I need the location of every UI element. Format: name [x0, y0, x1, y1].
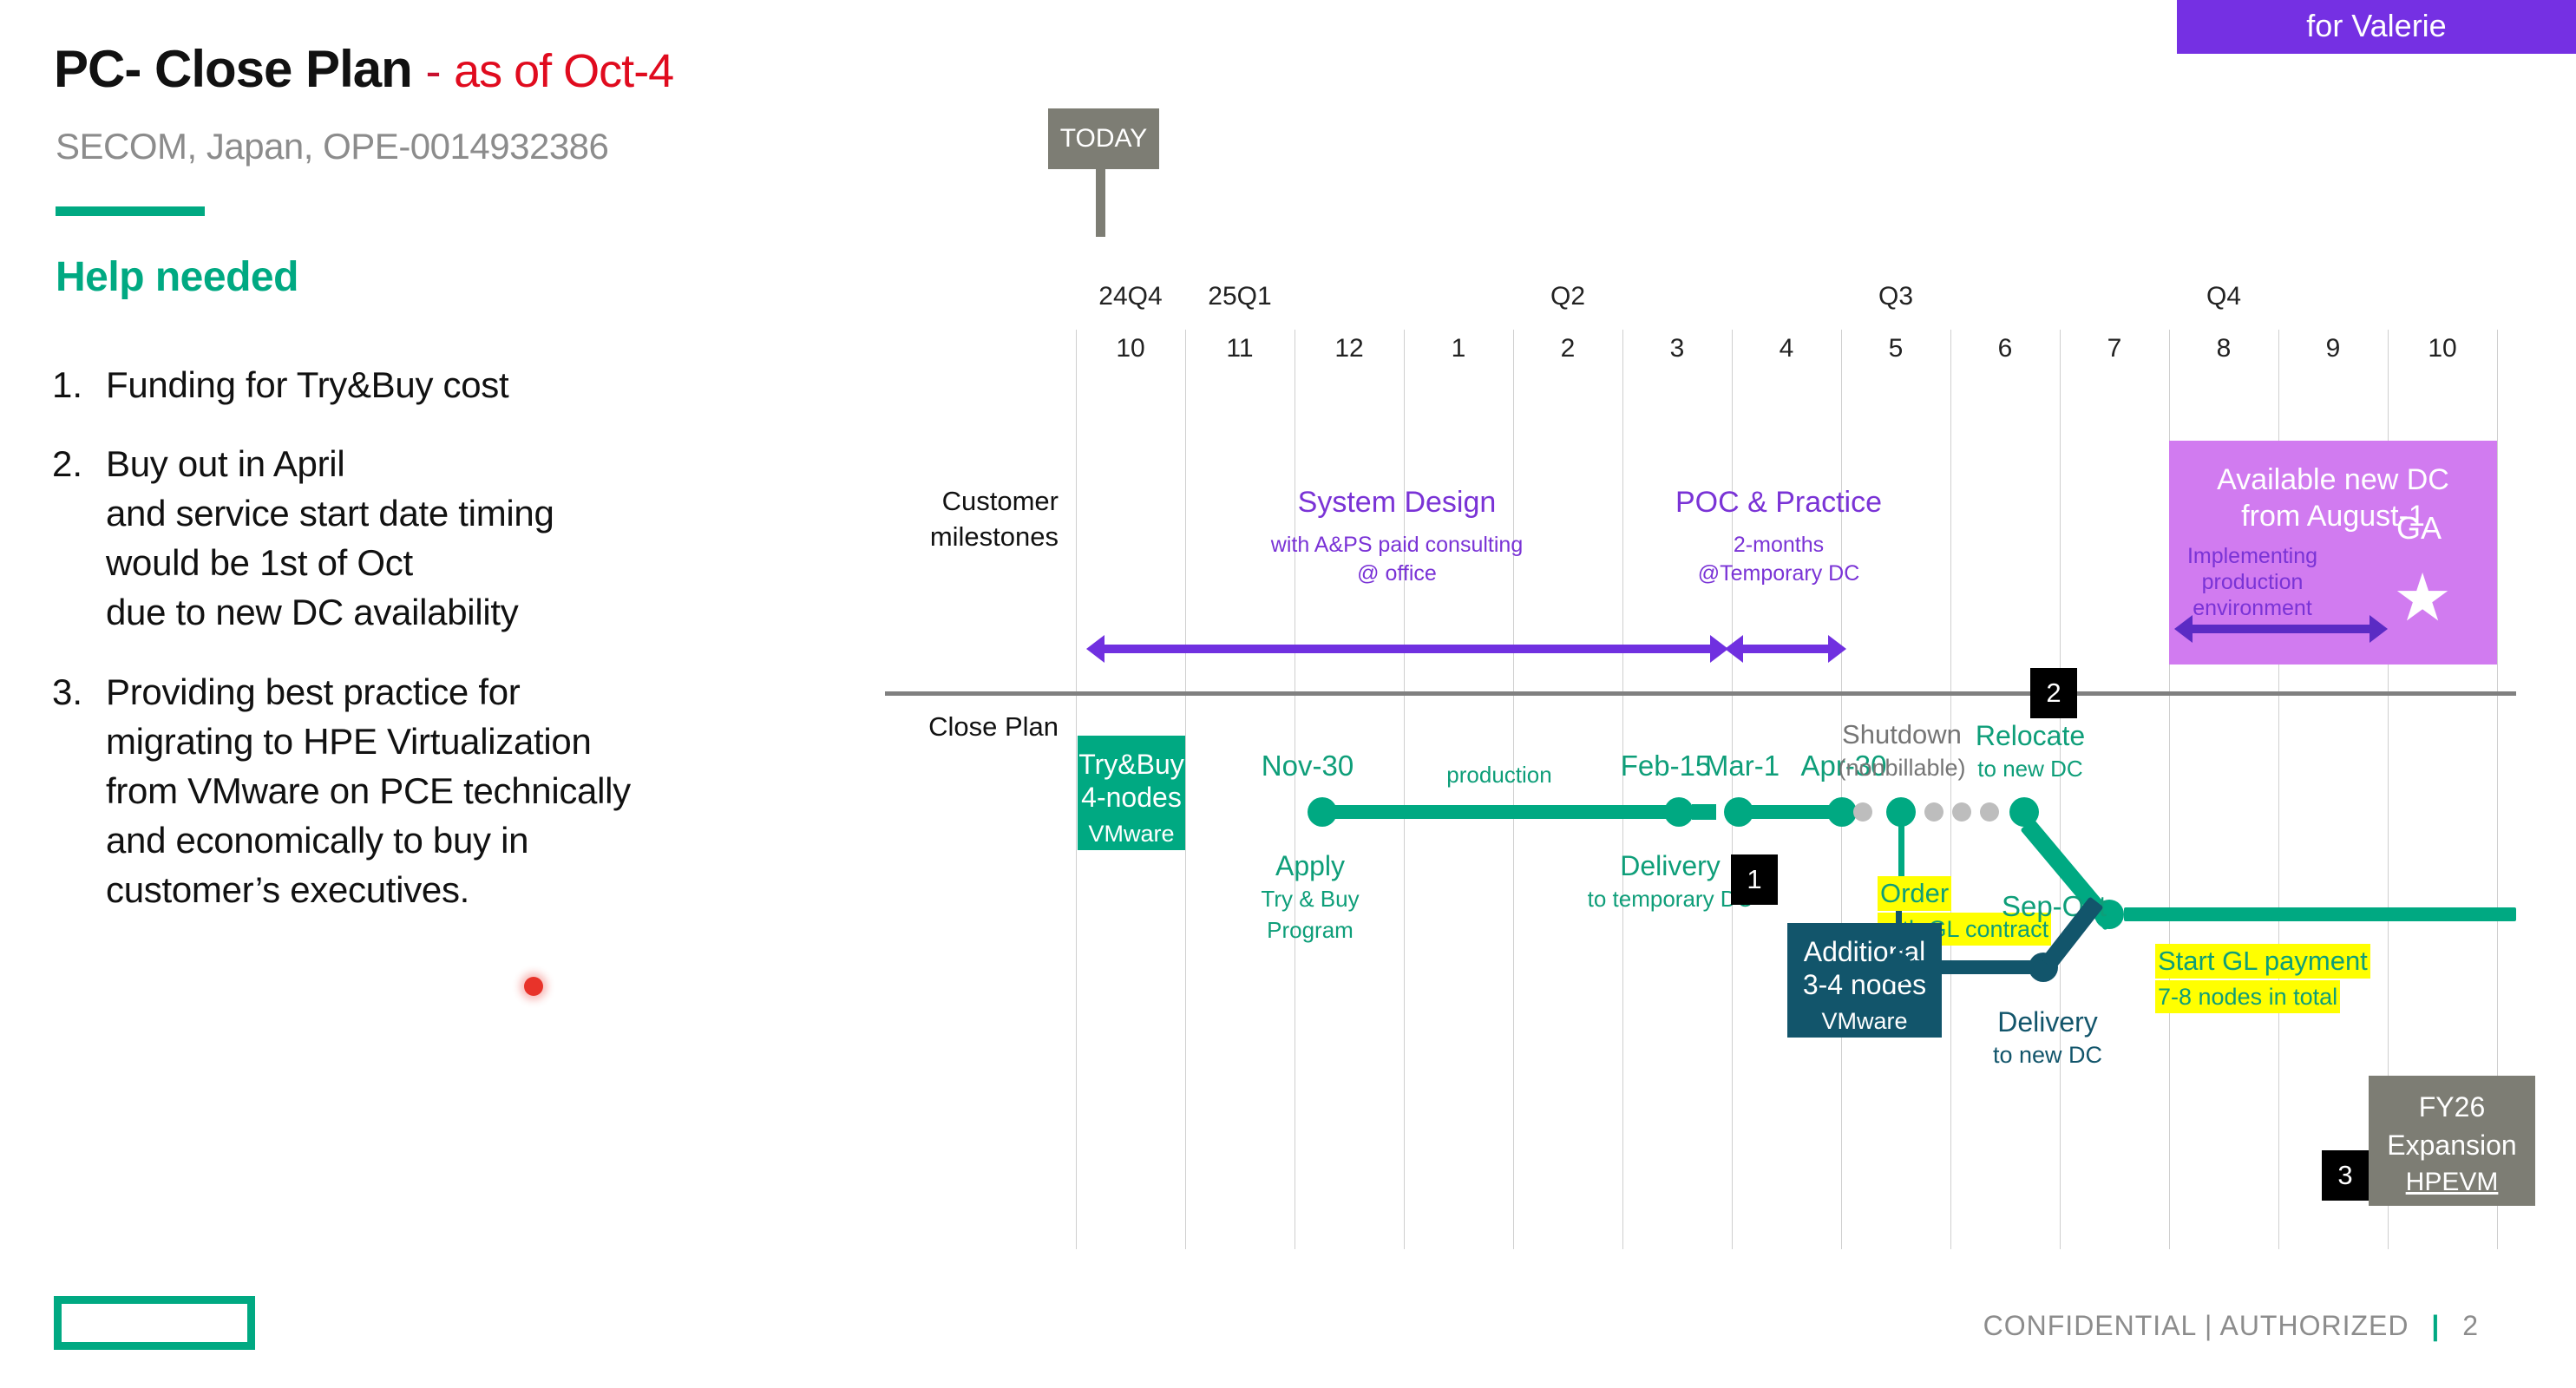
month-label: 8: [2169, 334, 2278, 363]
grid-line: [1841, 330, 1842, 1249]
list-item: 3. Providing best practice for migrating…: [52, 667, 876, 915]
dotted-track-dot: [1980, 802, 1999, 822]
month-label: 10: [1076, 334, 1185, 363]
list-item-line: Providing best practice for: [106, 667, 631, 717]
available-new-dc-headline-line: Available new DC: [2169, 462, 2497, 498]
list-item-line: due to new DC availability: [106, 587, 554, 637]
list-item-text: Buy out in April and service start date …: [106, 439, 554, 637]
list-item-line: and service start date timing: [106, 488, 554, 538]
row-label-customer-milestones: Customer milestones: [885, 484, 1059, 555]
list-item-line: customer’s executives.: [106, 865, 631, 914]
page-title-dash: -: [425, 45, 440, 97]
today-marker: TODAY: [1048, 108, 1159, 169]
milestone-sub-poc: 2-months @Temporary DC: [1614, 531, 1943, 589]
delivery-new-dc-title: Delivery: [1997, 1006, 2098, 1038]
track-connector: [1692, 804, 1716, 820]
slide-root: PC- Close Plan - as of Oct-4 SECOM, Japa…: [0, 0, 2576, 1388]
dotted-track-dot: [1924, 802, 1943, 822]
trybuy-chip-line: 4-nodes: [1078, 781, 1185, 814]
list-item-text: Providing best practice for migrating to…: [106, 667, 631, 915]
list-item-number: 1.: [52, 360, 106, 409]
available-new-dc-detail-line: environment: [2174, 595, 2330, 621]
available-new-dc-headline: Available new DC from August-1: [2169, 462, 2497, 534]
badge-3: 3: [2322, 1150, 2369, 1201]
ga-label: GA: [2396, 510, 2442, 547]
milestone-sub-line: 2-months: [1614, 531, 1943, 560]
quarter-label: Q2: [1513, 282, 1622, 311]
row-label-close-plan: Close Plan: [885, 710, 1059, 745]
trybuy-chip-line: Try&Buy: [1078, 736, 1185, 781]
fy26-line: Expansion: [2369, 1126, 2535, 1164]
milestone-dot-nov30: [1308, 797, 1337, 827]
month-label: 9: [2278, 334, 2388, 363]
month-label: 4: [1732, 334, 1841, 363]
additional-bar: [1911, 960, 2042, 974]
additional-start-dot: [1883, 953, 1912, 982]
additional-chip-line: VMware: [1787, 1001, 1942, 1036]
list-item-line: would be 1st of Oct: [106, 538, 554, 587]
month-label: 2: [1513, 334, 1622, 363]
footer-confidential: CONFIDENTIAL | AUTHORIZED: [1983, 1310, 2409, 1341]
list-item: 2. Buy out in April and service start da…: [52, 439, 876, 637]
dotted-track-dot: [1952, 802, 1971, 822]
milestone-sub-system-design: with A&PS paid consulting @ office: [1197, 531, 1596, 589]
milestone-dot-apr30: [1827, 797, 1857, 827]
milestone-dot-mar1: [1724, 797, 1753, 827]
date-label-nov30: Nov-30: [1221, 750, 1394, 782]
grid-line: [1076, 330, 1077, 1249]
badge-2: 2: [2030, 668, 2077, 718]
revision-banner-line1: as of October-4: [2177, 0, 2576, 7]
trybuy-chip: Try&Buy 4-nodes VMware: [1078, 736, 1185, 850]
milestone-sub-line: @Temporary DC: [1614, 560, 1943, 588]
month-label: 1: [1404, 334, 1513, 363]
available-new-dc-detail: Implementing production environment: [2174, 543, 2330, 621]
event-apply-title: Apply: [1275, 850, 1345, 881]
timeline: TODAY 24Q4 25Q1 Q2 Q3 Q4 10 11 12 1 2 3 …: [885, 208, 2516, 1249]
page-title: PC- Close Plan - as of Oct-4: [54, 39, 673, 99]
implementing-arrow: [2192, 625, 2370, 633]
badge-1: 1: [1731, 854, 1778, 905]
month-label: 10: [2388, 334, 2497, 363]
gl-payment-title: Start GL payment: [2155, 944, 2370, 979]
page-number: 2: [2462, 1310, 2479, 1341]
grid-line: [1732, 330, 1733, 1249]
gl-payment-sub: 7-8 nodes in total: [2155, 980, 2340, 1013]
delivery-new-dc-label: Delivery to new DC: [1952, 1005, 2143, 1070]
fy26-hpevm-link[interactable]: HPEVM: [2369, 1164, 2535, 1201]
grid-line: [1185, 330, 1186, 1249]
mouse-cursor-dot: [524, 977, 543, 996]
additional-stem: [1896, 911, 1902, 951]
list-item-number: 2.: [52, 439, 106, 637]
available-new-dc-box: Available new DC from August-1 Implement…: [2169, 441, 2497, 665]
grid-line: [1622, 330, 1623, 1249]
page-subtitle: SECOM, Japan, OPE-0014932386: [56, 126, 608, 167]
milestone-sub-line: with A&PS paid consulting: [1197, 531, 1596, 560]
ga-star-icon: ★: [2393, 573, 2452, 625]
month-label: 5: [1841, 334, 1950, 363]
month-label: 12: [1295, 334, 1404, 363]
list-item-text: Funding for Try&Buy cost: [106, 360, 508, 409]
month-label: 6: [1950, 334, 2060, 363]
grid-line: [1950, 330, 1951, 1249]
quarter-label: 24Q4: [1076, 282, 1185, 311]
grid-line: [1404, 330, 1405, 1249]
relocate-label: Relocate to new DC: [1935, 718, 2126, 784]
month-label: 11: [1185, 334, 1295, 363]
list-item-line: and economically to buy in: [106, 815, 631, 865]
section-heading-help-needed: Help needed: [56, 253, 298, 301]
production-bar-1: [1333, 805, 1680, 819]
dotted-track-dot: [1853, 802, 1872, 822]
production-label: production: [1413, 762, 1586, 789]
quarter-label: Q4: [2169, 282, 2278, 311]
additional-nodes-chip: Additional 3-4 nodes VMware: [1787, 923, 1942, 1038]
milestone-dot-feb15: [1664, 797, 1694, 827]
event-apply-sub: Try & Buy: [1223, 883, 1397, 914]
help-needed-list: 1. Funding for Try&Buy cost 2. Buy out i…: [52, 360, 876, 944]
revision-banner-line2: for Valerie: [2177, 7, 2576, 45]
list-item-line: from VMware on PCE technically: [106, 766, 631, 815]
list-item-number: 3.: [52, 667, 106, 915]
poc-practice-arrow: [1742, 645, 1829, 653]
section-divider: [885, 691, 2516, 696]
event-apply: Apply Try & Buy Program: [1223, 848, 1397, 946]
accent-bar: [56, 206, 205, 216]
event-apply-sub: Program: [1223, 914, 1397, 946]
milestone-title-system-design: System Design: [1232, 486, 1562, 520]
footer: CONFIDENTIAL | AUTHORIZED | 2: [1983, 1310, 2479, 1342]
available-new-dc-headline-line: from August-1: [2169, 498, 2497, 534]
quarter-label: Q3: [1841, 282, 1950, 311]
list-item-line: migrating to HPE Virtualization: [106, 717, 631, 766]
trybuy-chip-line: VMware: [1078, 814, 1185, 848]
row-label-line: Customer: [885, 484, 1059, 520]
month-label: 7: [2060, 334, 2169, 363]
fy26-expansion-box: FY26 Expansion HPEVM: [2369, 1076, 2535, 1206]
gl-payment-bar: [2124, 907, 2516, 921]
system-design-arrow: [1104, 645, 1711, 653]
order-title: Order: [1878, 876, 1951, 911]
event-delivery-title: Delivery: [1620, 850, 1721, 881]
quarter-label: 25Q1: [1185, 282, 1295, 311]
relocate-sub: to new DC: [1935, 753, 2126, 784]
revision-banner: as of October-4 for Valerie: [2177, 0, 2576, 54]
delivery-new-dc-sub: to new DC: [1952, 1039, 2143, 1070]
milestone-title-poc: POC & Practice: [1614, 486, 1943, 520]
footer-separator: |: [2431, 1310, 2440, 1341]
list-item: 1. Funding for Try&Buy cost: [52, 360, 876, 409]
grid-line: [1295, 330, 1295, 1249]
grid-line: [1513, 330, 1514, 1249]
row-label-line: milestones: [885, 520, 1059, 555]
today-marker-stem: [1096, 169, 1105, 237]
available-new-dc-detail-line: Implementing: [2174, 543, 2330, 569]
hpe-logo: [54, 1296, 255, 1350]
page-title-main: PC- Close Plan: [54, 40, 412, 98]
list-item-line: Funding for Try&Buy cost: [106, 360, 508, 409]
gl-payment-label: Start GL payment 7-8 nodes in total: [2155, 944, 2450, 1013]
page-title-asof: as of Oct-4: [454, 45, 673, 97]
grid-line: [2060, 330, 2061, 1249]
month-label: 3: [1622, 334, 1732, 363]
relocate-title: Relocate: [1976, 720, 2085, 751]
fy26-line: FY26: [2369, 1076, 2535, 1126]
list-item-line: Buy out in April: [106, 439, 554, 488]
available-new-dc-detail-line: production: [2174, 569, 2330, 595]
milestone-sub-line: @ office: [1197, 560, 1596, 588]
